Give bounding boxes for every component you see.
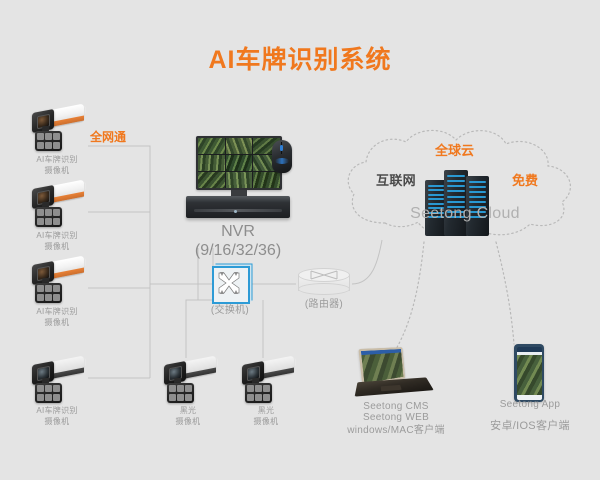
camera-blacklight-1-label: 黑光 摄像机 xyxy=(148,405,228,427)
page-title: AI车牌识别系统 xyxy=(0,40,600,76)
phone-label-platform: 安卓/IOS客户端 xyxy=(482,420,578,433)
nvr-device xyxy=(186,196,290,218)
diagram-canvas: AI车牌识别系统 xyxy=(0,0,600,480)
nvr-monitor xyxy=(196,136,282,202)
switch-x-icon xyxy=(216,270,242,296)
router-x-icon xyxy=(309,269,339,281)
nvr-channels: (9/16/32/36) xyxy=(176,241,300,260)
camera-ai-lpr-4-label: AI车牌识别 摄像机 xyxy=(14,405,100,427)
free-label: 免费 xyxy=(512,170,538,189)
camera-blacklight-2 xyxy=(236,358,298,408)
all-network-label: 全网通 xyxy=(90,128,126,145)
camera-blacklight-1 xyxy=(158,358,220,408)
camera-ai-lpr-3-label: AI车牌识别 摄像机 xyxy=(14,306,100,328)
camera-ai-lpr-2 xyxy=(26,182,88,232)
client-laptop xyxy=(355,348,433,400)
network-router xyxy=(298,268,350,294)
camera-ai-lpr-1-label: AI车牌识别 摄像机 xyxy=(14,154,100,176)
nvr-name: NVR xyxy=(186,222,290,241)
cloud-brand-label: Seetong Cloud xyxy=(395,208,535,219)
global-cloud-label: 全球云 xyxy=(435,140,474,159)
switch-label: (交换机) xyxy=(196,304,264,317)
camera-blacklight-2-label: 黑光 摄像机 xyxy=(226,405,306,427)
camera-ai-lpr-3 xyxy=(26,258,88,308)
laptop-label-web: Seetong WEB xyxy=(340,411,452,424)
cloud-server-rack xyxy=(425,160,497,236)
network-switch xyxy=(212,266,248,302)
phone-label-app: Seetong App xyxy=(484,398,576,411)
camera-ai-lpr-1 xyxy=(26,106,88,156)
internet-label: 互联网 xyxy=(366,175,426,186)
camera-ai-lpr-4 xyxy=(26,358,88,408)
laptop-label-platform: windows/MAC客户端 xyxy=(334,424,458,437)
router-label: (路由器) xyxy=(292,298,356,311)
computer-mouse xyxy=(272,140,292,173)
camera-ai-lpr-2-label: AI车牌识别 摄像机 xyxy=(14,230,100,252)
client-phone xyxy=(514,344,544,402)
